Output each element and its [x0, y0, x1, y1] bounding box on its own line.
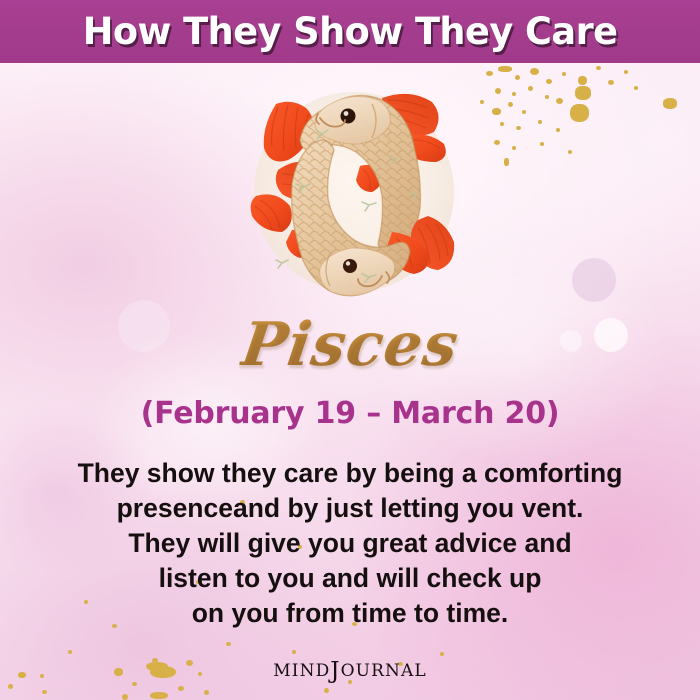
gold-speckle: [324, 688, 329, 693]
gold-speckle: [122, 694, 128, 700]
gold-speckle: [8, 684, 13, 689]
gold-speckle: [504, 158, 509, 166]
gold-speckle: [512, 146, 516, 150]
decorative-bubble: [572, 258, 616, 302]
gold-speckle: [530, 68, 539, 75]
gold-speckle: [575, 86, 591, 100]
description-line: They show they care by being a comfortin…: [26, 456, 674, 491]
gold-speckle: [226, 642, 231, 646]
gold-speckle: [512, 92, 516, 96]
gold-speckle: [578, 76, 587, 85]
gold-speckle: [492, 108, 501, 115]
gold-speckle: [556, 128, 560, 132]
gold-speckle: [494, 140, 500, 145]
banner-title: How They Show They Care: [83, 10, 618, 53]
gold-speckle: [663, 98, 677, 109]
header-banner: How They Show They Care: [0, 0, 700, 63]
gold-speckle: [495, 88, 501, 94]
gold-speckle: [515, 75, 520, 80]
gold-speckle: [292, 650, 296, 654]
zodiac-info-card: How They Show They Care: [0, 0, 700, 700]
gold-speckle: [540, 142, 544, 146]
description-line: on you from time to time.: [26, 596, 674, 631]
pisces-illustration: [232, 74, 476, 318]
gold-speckle: [500, 122, 504, 126]
gold-speckle: [538, 120, 542, 124]
gold-speckle: [546, 79, 552, 84]
gold-speckle: [42, 690, 47, 694]
gold-speckle: [528, 86, 533, 91]
gold-speckle: [178, 686, 184, 691]
gold-speckle: [516, 126, 521, 130]
gold-speckle: [132, 682, 137, 686]
description-line: They will give you great advice and: [26, 526, 674, 561]
brand-logo-j: J: [330, 658, 340, 684]
gold-speckle: [634, 86, 638, 90]
gold-speckle: [486, 71, 493, 76]
gold-speckle: [480, 100, 484, 104]
zodiac-sign-name-wrapper: Pisces: [0, 310, 700, 380]
gold-speckle: [508, 102, 513, 107]
gold-speckle: [608, 80, 614, 85]
gold-speckle: [624, 70, 628, 74]
gold-speckle: [570, 104, 589, 122]
zodiac-date-range: (February 19 – March 20): [0, 396, 700, 431]
gold-speckle: [556, 98, 563, 104]
gold-speckle: [150, 692, 168, 699]
gold-speckle: [522, 110, 526, 114]
gold-speckle: [596, 66, 601, 70]
gold-speckle: [68, 650, 72, 654]
gold-speckle: [204, 690, 209, 695]
gold-speckle: [568, 150, 572, 154]
gold-speckle: [545, 95, 549, 99]
brand-logo-mind: MIND: [273, 661, 330, 681]
brand-logo-ournal: OURNAL: [341, 661, 427, 681]
brand-logo: MINDJOURNAL: [0, 656, 700, 682]
description-line: listen to you and will check up: [26, 561, 674, 596]
gold-speckle: [562, 72, 566, 76]
zodiac-sign-name: Pisces: [237, 310, 463, 380]
zodiac-description: They show they care by being a comfortin…: [26, 456, 674, 631]
gold-speckle: [498, 66, 512, 72]
description-line: presenceand by just letting you vent.: [26, 491, 674, 526]
